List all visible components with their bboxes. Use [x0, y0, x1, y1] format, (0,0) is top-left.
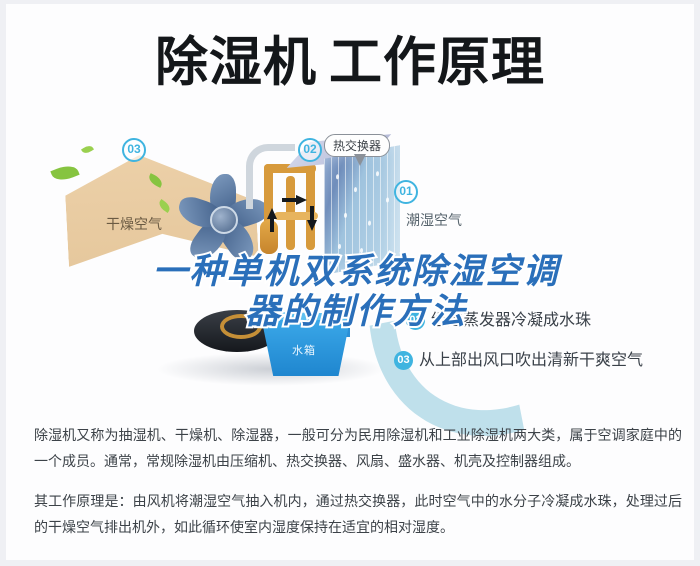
flow-arrow-down-icon — [307, 220, 317, 231]
flow-arrow-stem-icon — [282, 198, 296, 202]
step-badge-03: 03 — [394, 351, 413, 370]
flow-arrow-right-icon — [296, 195, 307, 205]
flow-arrow-stem-icon — [310, 206, 314, 220]
flow-arrow-up-icon — [267, 208, 277, 219]
paragraph-definition: 除湿机又称为抽湿机、干燥机、除湿器，一般可分为民用除湿机和工业除湿机两大类，属于… — [34, 422, 682, 474]
label-dry-air: 干燥空气 — [106, 214, 162, 234]
step-text-03: 从上部出风口吹出清新干爽空气 — [419, 352, 643, 369]
badge-dry-air: 03 — [122, 138, 146, 162]
step-line-03: 03从上部出风口吹出清新干爽空气 — [394, 346, 643, 370]
page-title-part2: 工作原理 — [329, 33, 545, 92]
overlay-watermark-title: 一种单机双系统除湿空调 器的制作方法 — [6, 252, 694, 332]
paragraph-working-principle: 其工作原理是：由风机将潮湿空气抽入机内，通过热交换器，此时空气中的水分子冷凝成水… — [34, 488, 682, 540]
label-water-tank: 水箱 — [292, 342, 316, 358]
compressor-cylinder-icon — [260, 220, 278, 254]
callout-pointer-icon — [354, 154, 366, 166]
flow-arrow-stem-icon — [270, 218, 274, 232]
fan-hub-icon — [210, 206, 238, 234]
label-humid-air: 潮湿空气 — [406, 210, 462, 230]
content-card: 除湿机工作原理 — [6, 4, 694, 560]
overlay-title-line1: 一种单机双系统除湿空调 — [6, 252, 694, 292]
overlay-title-line2: 器的制作方法 — [6, 292, 694, 332]
badge-humid-air: 01 — [394, 180, 418, 204]
badge-heat-exchanger: 02 — [298, 138, 322, 162]
leaf-icon — [81, 144, 94, 156]
leaf-icon — [50, 162, 79, 185]
page-title-part1: 除湿机 — [155, 33, 317, 92]
